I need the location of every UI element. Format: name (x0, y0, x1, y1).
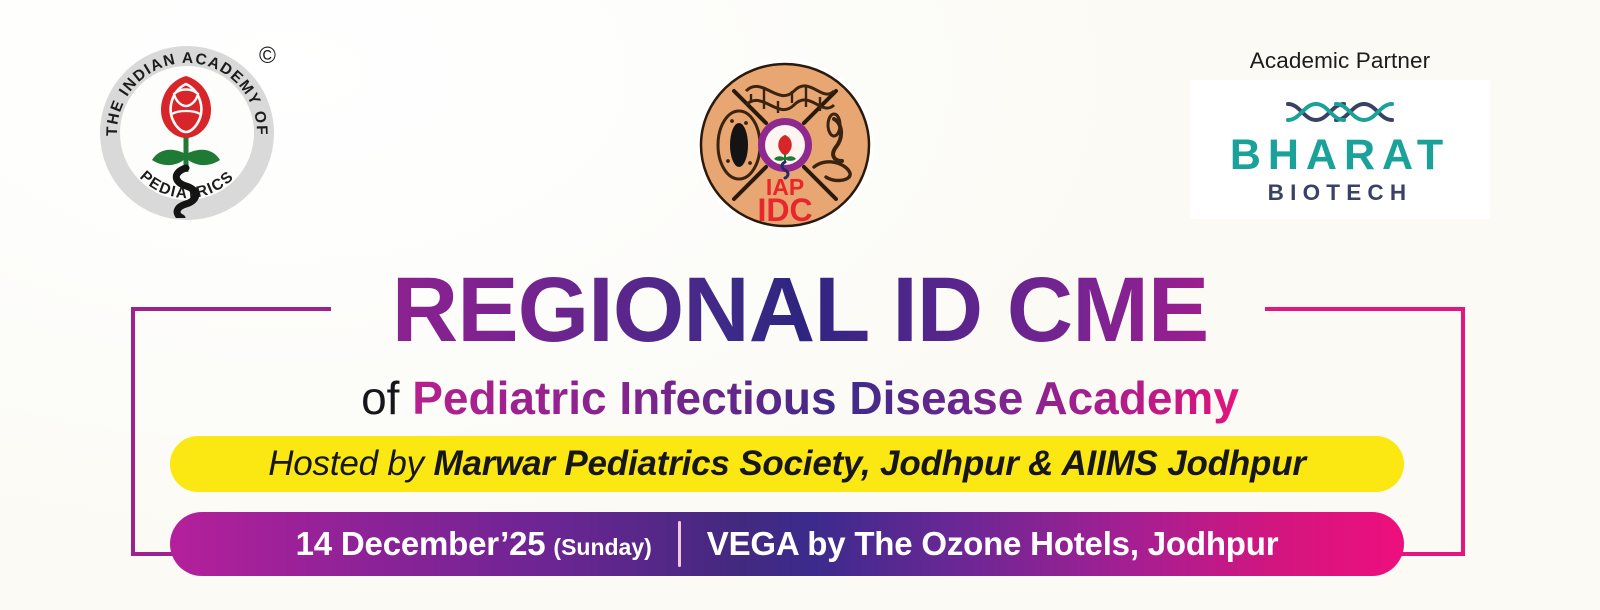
idc-disc-icon: IAP IDC (694, 57, 876, 233)
event-date-group: 14 December’25(Sunday) (296, 525, 652, 563)
event-weekday: (Sunday) (553, 534, 651, 560)
info-divider (678, 521, 681, 567)
hosted-by-prefix: Hosted by (268, 444, 433, 483)
hosted-by-text: Hosted by Marwar Pediatrics Society, Jod… (268, 444, 1306, 484)
page-subtitle: of Pediatric Infectious Disease Academy (0, 370, 1600, 428)
event-info-inner: 14 December’25(Sunday) VEGA by The Ozone… (296, 521, 1279, 567)
bharat-biotech-wordmark: BHARAT (1200, 134, 1480, 178)
rose-emblem-icon (140, 68, 234, 218)
logo-row: THE INDIAN ACADEMY OF PEDIATRICS (0, 0, 1600, 250)
indian-academy-of-pediatrics-logo: THE INDIAN ACADEMY OF PEDIATRICS (92, 38, 282, 228)
copyright-icon: © (259, 44, 276, 67)
idc-text-idc: IDC (757, 192, 812, 228)
hosted-by-bar: Hosted by Marwar Pediatrics Society, Jod… (170, 436, 1404, 492)
iap-idc-logo: IAP IDC (694, 57, 876, 233)
academic-partner-label: Academic Partner (1180, 48, 1500, 74)
event-banner: THE INDIAN ACADEMY OF PEDIATRICS (0, 0, 1600, 610)
event-info-bar: 14 December’25(Sunday) VEGA by The Ozone… (170, 512, 1404, 576)
headline-wrap: REGIONAL ID CME (0, 262, 1600, 359)
event-date: 14 December’25 (296, 525, 546, 562)
academic-partner-block: Academic Partner BHARAT BIOTECH (1180, 48, 1500, 219)
bharat-biotech-subword: BIOTECH (1200, 178, 1480, 207)
dna-helix-icon (1282, 94, 1398, 130)
subtitle-organization: Pediatric Infectious Disease Academy (412, 372, 1239, 424)
bharat-biotech-logo: BHARAT BIOTECH (1190, 80, 1490, 219)
subtitle-prefix: of (361, 372, 412, 424)
hosted-by-organizations: Marwar Pediatrics Society, Jodhpur & AII… (434, 444, 1306, 483)
event-venue: VEGA by The Ozone Hotels, Jodhpur (707, 525, 1279, 563)
page-title: REGIONAL ID CME (0, 262, 1600, 359)
